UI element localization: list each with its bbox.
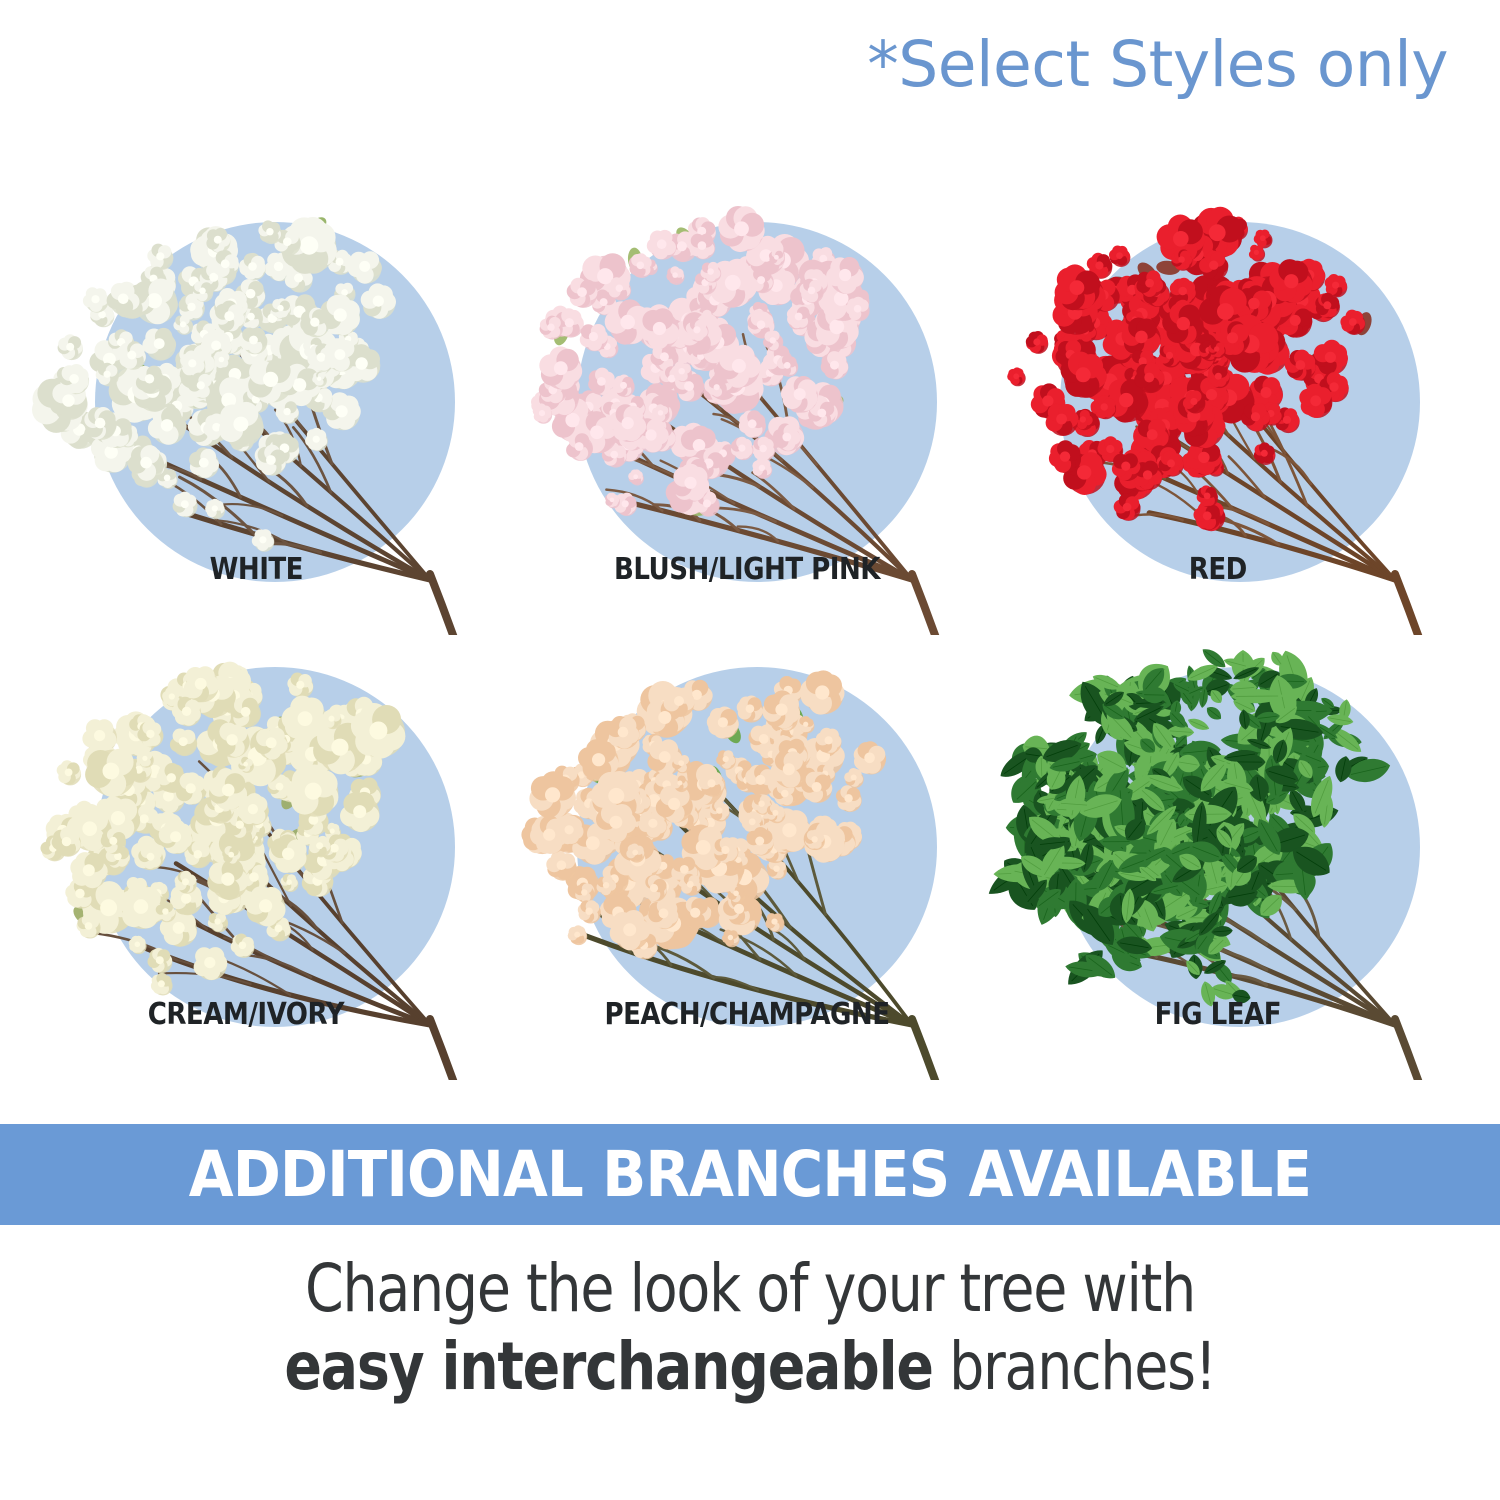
- tagline-line-1: Change the look of your tree with: [120, 1252, 1380, 1326]
- swatch-peach-champagne[interactable]: PEACH/CHAMPAGNE: [497, 615, 997, 1080]
- swatch-disc: [577, 222, 937, 582]
- swatch-disc: [95, 667, 455, 1027]
- swatch-label: WHITE: [39, 552, 474, 587]
- banner-text: ADDITIONAL BRANCHES AVAILABLE: [189, 1143, 1311, 1206]
- additional-branches-banner: ADDITIONAL BRANCHES AVAILABLE: [0, 1124, 1500, 1225]
- select-styles-note: *Select Styles only: [867, 28, 1448, 101]
- swatch-cream-ivory[interactable]: CREAM/IVORY: [15, 615, 515, 1080]
- swatch-disc: [1060, 667, 1420, 1027]
- tagline-line-2-rest: branches!: [933, 1328, 1216, 1405]
- tagline-emphasis: easy interchangeable: [284, 1328, 932, 1405]
- swatch-label: CREAM/IVORY: [28, 997, 463, 1032]
- swatch-disc: [95, 222, 455, 582]
- tagline-block: Change the look of your tree with easy i…: [0, 1252, 1500, 1404]
- tagline-line-2: easy interchangeable branches!: [120, 1330, 1380, 1404]
- swatch-label: BLUSH/LIGHT PINK: [530, 552, 965, 587]
- infographic-page: *Select Styles only WHITE BLUSH/LIGHT PI…: [0, 0, 1500, 1500]
- swatch-fig-leaf[interactable]: FIG LEAF: [980, 615, 1480, 1080]
- swatch-label: FIG LEAF: [1000, 997, 1435, 1032]
- swatch-label: RED: [1000, 552, 1435, 587]
- swatch-blush-light-pink[interactable]: BLUSH/LIGHT PINK: [497, 170, 997, 635]
- swatch-label: PEACH/CHAMPAGNE: [530, 997, 965, 1032]
- swatch-red[interactable]: RED: [980, 170, 1480, 635]
- swatch-disc: [1060, 222, 1420, 582]
- swatch-white[interactable]: WHITE: [15, 170, 515, 635]
- branch-swatch-grid: WHITE BLUSH/LIGHT PINK RED CREAM/IVORY P…: [0, 170, 1500, 1100]
- swatch-disc: [577, 667, 937, 1027]
